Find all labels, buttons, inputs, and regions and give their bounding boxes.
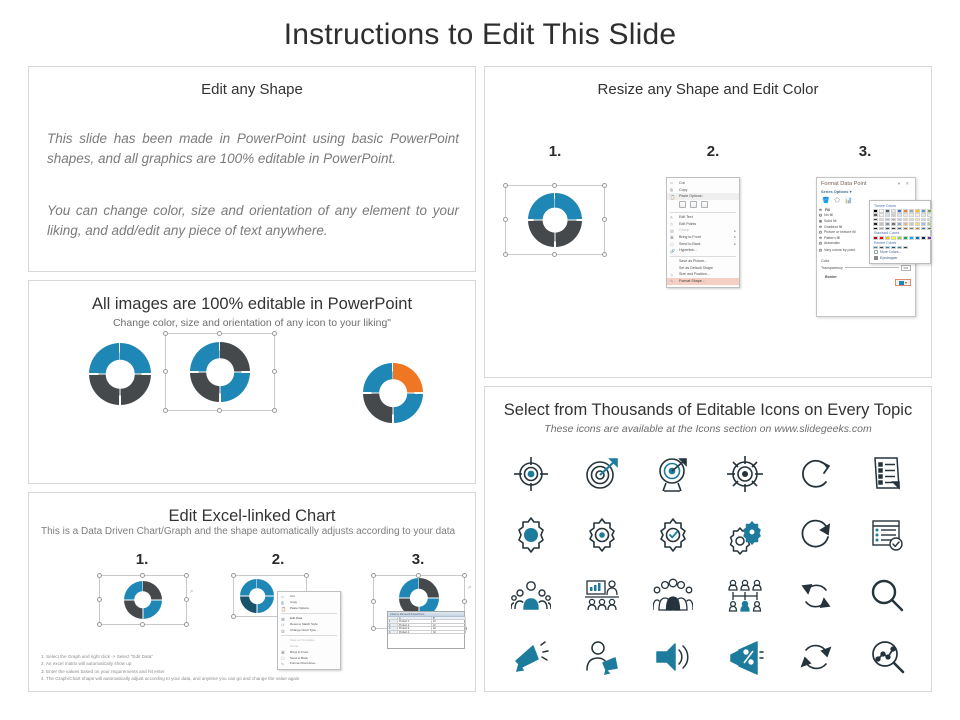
resize-handle-top-right[interactable]: [602, 183, 607, 188]
resize-handle-middle-right[interactable]: [184, 597, 189, 602]
resize-handle-top-left[interactable]: [231, 573, 236, 578]
ctx-item-format-shape[interactable]: ✎Format Shape...: [667, 278, 739, 285]
ctx-label: Format Shape...: [679, 279, 705, 283]
resize-handle-bottom-center[interactable]: [217, 408, 222, 413]
ctx-separator: [670, 212, 736, 213]
panel-title-excel: Edit Excel-linked Chart: [29, 507, 475, 526]
edit-points-icon: ◇: [670, 222, 673, 227]
format-shape-icon: ✎: [670, 279, 673, 284]
panel-images-editable: All images are 100% editable in PowerPoi…: [28, 280, 476, 484]
swatch[interactable]: [915, 213, 920, 217]
mini-excel-window[interactable]: Chart in Microsoft PowerPoint A B 1 Prod…: [387, 611, 465, 649]
ctx-label: Edit Data: [290, 617, 302, 621]
excel-instruction-3: 3. Enter the values based on your requir…: [41, 668, 465, 676]
swatch[interactable]: [879, 209, 884, 213]
resize-handle-top-left[interactable]: [163, 331, 168, 336]
swatch[interactable]: [915, 218, 920, 222]
swatch[interactable]: [891, 222, 896, 226]
swatch[interactable]: [909, 227, 914, 231]
ctx-item-copy[interactable]: ⧉Copy: [667, 187, 739, 194]
eyedropper-icon: [874, 256, 878, 260]
swatch[interactable]: [903, 246, 908, 250]
ctx-label: Change Chart Type...: [290, 629, 318, 633]
swatch[interactable]: [927, 218, 932, 222]
chart-type-icon: ▥: [281, 628, 285, 633]
resize-handle-bottom-right[interactable]: [184, 622, 189, 627]
selection-frame-donut-center[interactable]: [165, 333, 275, 411]
ctx-label: Paste Options:: [679, 194, 703, 198]
send-back-icon: ▢: [670, 242, 674, 247]
swatch[interactable]: [873, 236, 878, 240]
document-check-icon[interactable]: [867, 515, 907, 555]
palette-theme-label: Theme Colors: [874, 204, 927, 208]
ctx-separator: [281, 635, 337, 636]
ctx-label: Group: [290, 645, 298, 649]
person-megaphone-icon[interactable]: [582, 637, 622, 677]
swatch[interactable]: [897, 227, 902, 231]
resize-handle-top-center[interactable]: [217, 331, 222, 336]
ctx-label: Edit Points: [679, 222, 696, 226]
excel-step-number-3: 3.: [381, 551, 455, 568]
radio-icon: [819, 209, 822, 212]
swatch[interactable]: [891, 213, 896, 217]
resize-handle-bottom-right[interactable]: [272, 408, 277, 413]
group-icon: ▤: [670, 228, 674, 233]
gear-outline-icon[interactable]: [582, 515, 622, 555]
format-dialog-controls[interactable]: ▾ ✕: [898, 181, 911, 187]
ctx-item-size-and-position[interactable]: ⇳Size and Position...: [667, 271, 739, 278]
swatch[interactable]: [927, 222, 932, 226]
swatch[interactable]: [897, 222, 902, 226]
megaphone-discount-icon[interactable]: [725, 637, 765, 677]
resize-handle-top-right[interactable]: [184, 573, 189, 578]
color-palette-flyout[interactable]: Theme Colors: [869, 200, 931, 264]
ctx-item-change-chart-type[interactable]: ▥Change Chart Type...: [278, 628, 340, 634]
panel-editable-icons: Select from Thousands of Editable Icons …: [484, 386, 932, 692]
fill-section-label: Fill: [821, 208, 830, 212]
swatch[interactable]: [909, 213, 914, 217]
checkbox-icon[interactable]: [819, 249, 822, 252]
swatch[interactable]: [891, 218, 896, 222]
color-label: Color: [821, 259, 830, 263]
resize-handle-bottom-left[interactable]: [503, 252, 508, 257]
swatch[interactable]: [885, 246, 890, 250]
swatch[interactable]: [897, 236, 902, 240]
ctx-separator: [670, 256, 736, 257]
more-colors-icon: [874, 250, 878, 254]
swatch[interactable]: [885, 222, 890, 226]
swatch[interactable]: [891, 209, 896, 213]
refresh-circle-icon[interactable]: [796, 515, 836, 555]
resize-handle-top-center[interactable]: [140, 573, 145, 578]
swatch[interactable]: [921, 222, 926, 226]
swatch[interactable]: [921, 209, 926, 213]
ctx-item-set-default-shape[interactable]: Set as Default Shape: [667, 265, 739, 272]
swatch[interactable]: [921, 227, 926, 231]
resize-handle-middle-right[interactable]: [602, 217, 607, 222]
ctx-label: Group: [679, 228, 689, 232]
resize-handle-bottom-center[interactable]: [552, 252, 557, 257]
chart-icon[interactable]: 📊: [845, 197, 852, 204]
swatch[interactable]: [903, 222, 908, 226]
resize-handle-middle-left[interactable]: [503, 217, 508, 222]
ctx-label: Cut: [290, 595, 295, 599]
ctx-label: Save as Template...: [290, 639, 316, 643]
paste-keep-text-icon[interactable]: [701, 201, 708, 208]
swatch[interactable]: [927, 227, 932, 231]
resize-donut-selection-frame[interactable]: [505, 185, 605, 255]
resize-handle-bottom-right[interactable]: [602, 252, 607, 257]
shape-context-menu[interactable]: ✂Cut ⧉Copy 📋Paste Options: AEdit Text ◇E…: [666, 177, 740, 288]
swatch[interactable]: [897, 209, 902, 213]
mini-excel-grid[interactable]: A B 1 Product 1 18 2 Product 2 22 3 Prod…: [388, 617, 464, 634]
paste-icon: 📋: [281, 606, 286, 611]
excel-step-number-1: 1.: [105, 551, 179, 568]
chevron-down-icon[interactable]: ▾: [850, 189, 852, 194]
edit-data-icon: ▦: [281, 616, 285, 621]
radio-icon[interactable]: [819, 214, 822, 217]
excel-step1-donut[interactable]: [124, 581, 162, 619]
resize-handle-top-right[interactable]: [462, 573, 467, 578]
target-stand-icon[interactable]: [653, 454, 693, 494]
swatch[interactable]: [891, 236, 896, 240]
fill-option-label: Solid fill: [824, 219, 836, 223]
paste-keep-formatting-icon[interactable]: [679, 201, 686, 208]
swatch[interactable]: [897, 213, 902, 217]
excel-step1-selection-frame[interactable]: [99, 575, 187, 625]
group-people-icon[interactable]: [653, 576, 693, 616]
theme-colors-grid[interactable]: [873, 209, 927, 230]
magnifier-analytics-icon[interactable]: [867, 637, 907, 677]
resize-handle-middle-left[interactable]: [371, 599, 376, 604]
swatch[interactable]: [873, 246, 878, 250]
ctx-label: Save as Picture...: [679, 259, 707, 263]
panel-title-images: All images are 100% editable in PowerPoi…: [29, 295, 475, 314]
expand-icon: [819, 276, 822, 279]
ctx-item-cut[interactable]: ✂Cut: [667, 180, 739, 187]
ctx-label: Set as Default Shape: [679, 266, 713, 270]
resize-handle-middle-left[interactable]: [163, 369, 168, 374]
swatch[interactable]: [909, 218, 914, 222]
ctx-label: Hyperlink...: [679, 248, 697, 252]
swatch[interactable]: [885, 218, 890, 222]
color-picker-button[interactable]: ▾: [895, 279, 911, 286]
panel-excel-linked-chart: Edit Excel-linked Chart This is a Data D…: [28, 492, 476, 692]
swatch[interactable]: [885, 236, 890, 240]
target-dartboard-icon[interactable]: [582, 454, 622, 494]
excel-instruction-4: 4. The Graph/Chart shape will automatica…: [41, 675, 465, 683]
more-colors-label: More Colors...: [880, 250, 901, 254]
resize-handle-top-right[interactable]: [272, 331, 277, 336]
excel-step2-donut[interactable]: [240, 579, 274, 613]
ctx-label: Reset to Match Style: [290, 623, 318, 627]
ctx-item-hyperlink[interactable]: 🔗Hyperlink...: [667, 247, 739, 254]
presentation-team-icon[interactable]: [582, 576, 622, 616]
swatch[interactable]: [915, 222, 920, 226]
swatch[interactable]: [909, 209, 914, 213]
resize-handle-top-center[interactable]: [552, 183, 557, 188]
format-data-point-dialog[interactable]: Format Data Point ▾ ✕ Series Options ▾ 🪣…: [816, 177, 916, 317]
resize-handle-top-right[interactable]: [304, 573, 309, 578]
panel-edit-any-shape: Edit any Shape This slide has been made …: [28, 66, 476, 272]
swatch[interactable]: [879, 236, 884, 240]
excel-step3-cursor-icon: ↗: [467, 585, 471, 591]
swatch[interactable]: [903, 236, 908, 240]
swatch[interactable]: [909, 222, 914, 226]
refresh-cycle-icon[interactable]: [796, 637, 836, 677]
format-dialog-titlebar: Format Data Point ▾ ✕: [817, 178, 915, 189]
swatch[interactable]: [873, 218, 878, 222]
resize-handle-top-left[interactable]: [371, 573, 376, 578]
palette-recent-label: Recent Colors: [874, 241, 927, 245]
speaker-loud-icon[interactable]: [653, 637, 693, 677]
paste-icon: 📋: [670, 194, 675, 199]
radio-icon[interactable]: [819, 242, 822, 245]
ctx-item-paste[interactable]: 📋Paste Options: [278, 606, 340, 612]
border-section-label: Border: [821, 275, 837, 279]
scissors-icon: ✂: [281, 594, 284, 599]
fill-option-label: Picture or texture fill: [824, 230, 856, 234]
swatch[interactable]: [921, 236, 926, 240]
fill-option-label: No fill: [824, 213, 833, 217]
icons-grid: [495, 443, 923, 687]
donut-blue-gray-selected[interactable]: [190, 342, 250, 402]
chevron-right-icon: ▸: [734, 242, 736, 246]
megaphone-icon[interactable]: [511, 637, 551, 677]
swatch[interactable]: [897, 246, 902, 250]
mini-excel-row-num: 4: [388, 631, 398, 634]
copy-icon: ⧉: [670, 188, 673, 193]
donut-orange-accent[interactable]: [363, 363, 423, 423]
swatch[interactable]: [873, 222, 878, 226]
standard-colors-grid[interactable]: [873, 236, 927, 240]
vary-colors-label: Vary colors by point: [824, 248, 855, 252]
copy-icon: ⧉: [281, 600, 284, 605]
swatch[interactable]: [903, 218, 908, 222]
refresh-sync-icon[interactable]: [796, 576, 836, 616]
swatch[interactable]: [897, 218, 902, 222]
fill-option-label: Automatic: [824, 241, 840, 245]
resize-step-number-1: 1.: [525, 143, 585, 160]
swatch[interactable]: [879, 227, 884, 231]
ctx-item-save-as-picture[interactable]: Save as Picture...: [667, 258, 739, 265]
panel-title-resize: Resize any Shape and Edit Color: [485, 81, 931, 98]
swatch[interactable]: [891, 246, 896, 250]
donut-blue-gray-left[interactable]: [89, 343, 151, 405]
eyedropper-label: Eyedropper: [880, 256, 898, 260]
format-dialog-series-options[interactable]: Series Options ▾: [817, 189, 915, 196]
resize-handle-bottom-left[interactable]: [97, 622, 102, 627]
page-title: Instructions to Edit This Slide: [0, 18, 960, 52]
ctx-label: Paste Options: [290, 607, 309, 611]
swatch[interactable]: [873, 213, 878, 217]
effects-icon[interactable]: ⬠: [834, 197, 839, 204]
ctx-label: Cut: [679, 181, 685, 185]
edit-shape-paragraph-1: This slide has been made in PowerPoint u…: [47, 129, 459, 169]
ctx-item-bring-front[interactable]: ▣Bring to Front▸: [667, 234, 739, 241]
excel-step-number-2: 2.: [241, 551, 315, 568]
swatch[interactable]: [903, 227, 908, 231]
paste-option-buttons[interactable]: [667, 200, 739, 210]
swatch[interactable]: [927, 209, 932, 213]
ctx-item-edit-text[interactable]: AEdit Text: [667, 214, 739, 221]
resize-handle-bottom-left[interactable]: [231, 614, 236, 619]
swatch[interactable]: [903, 213, 908, 217]
checklist-document-icon[interactable]: [867, 454, 907, 494]
edit-text-icon: A: [670, 215, 673, 220]
panel-title-edit-shape: Edit any Shape: [29, 81, 475, 98]
fill-option-label: Gradient fill: [824, 225, 842, 229]
transparency-field-row[interactable]: Transparency 0%: [817, 264, 915, 272]
reset-style-icon: ↺: [281, 622, 284, 627]
resize-handle-middle-left[interactable]: [97, 597, 102, 602]
ctx-label: Size and Position...: [679, 272, 710, 276]
eyedropper-option[interactable]: Eyedropper: [873, 255, 927, 261]
panel-subtitle-images: Change color, size and orientation of an…: [29, 317, 475, 329]
chevron-down-icon: ▾: [905, 280, 907, 285]
ctx-label: Bring to Front: [679, 235, 701, 239]
resize-handle-middle-right[interactable]: [462, 599, 467, 604]
target-scope-icon[interactable]: [725, 454, 765, 494]
radio-icon[interactable]: [819, 225, 822, 228]
ctx-item-send-back[interactable]: ▢Send to Back▸: [667, 241, 739, 248]
chevron-right-icon: ▸: [734, 229, 736, 233]
resize-handle-top-left[interactable]: [503, 183, 508, 188]
swatch[interactable]: [879, 213, 884, 217]
ctx-item-group[interactable]: ▤Group▸: [667, 227, 739, 234]
target-crosshair-icon[interactable]: [511, 454, 551, 494]
refresh-clockwise-icon[interactable]: [796, 454, 836, 494]
resize-handle-top-left[interactable]: [97, 573, 102, 578]
swatch[interactable]: [921, 218, 926, 222]
ctx-separator: [281, 613, 337, 614]
swatch[interactable]: [879, 246, 884, 250]
excel-step1-cursor-icon: ↗: [189, 589, 193, 595]
swatch[interactable]: [873, 209, 878, 213]
resize-handle-bottom-left[interactable]: [371, 626, 376, 631]
swatch[interactable]: [915, 227, 920, 231]
bring-front-icon: ▣: [670, 235, 674, 240]
transparency-value[interactable]: 0%: [901, 265, 911, 271]
paste-picture-icon[interactable]: [690, 201, 697, 208]
fill-bucket-icon[interactable]: 🪣: [822, 197, 829, 204]
swatch[interactable]: [903, 209, 908, 213]
org-chart-people-icon[interactable]: [725, 576, 765, 616]
excel-instructions-list: 1. Select the Graph and right click -> S…: [41, 653, 465, 683]
radio-icon[interactable]: [819, 236, 822, 239]
panel-resize-shape-edit-color: Resize any Shape and Edit Color 1. 2. 3.…: [484, 66, 932, 378]
swatch[interactable]: [915, 236, 920, 240]
swatch[interactable]: [885, 227, 890, 231]
swatch[interactable]: [891, 227, 896, 231]
radio-icon[interactable]: [819, 231, 822, 234]
ctx-label: Copy: [679, 188, 687, 192]
transparency-label: Transparency: [821, 266, 843, 270]
excel-instruction-1: 1. Select the Graph and right click -> S…: [41, 653, 465, 661]
swatch[interactable]: [885, 209, 890, 213]
mini-excel-cell[interactable]: 30: [432, 631, 466, 634]
fill-option-label: Pattern fill: [824, 236, 840, 240]
swatch[interactable]: [873, 227, 878, 231]
swatch[interactable]: [909, 236, 914, 240]
ctx-label: Copy: [290, 601, 297, 605]
ctx-label: Send to Back: [679, 242, 700, 246]
team-leader-icon[interactable]: [511, 576, 551, 616]
swatch[interactable]: [927, 213, 932, 217]
fill-color-swatch: [899, 281, 904, 285]
magnifier-icon[interactable]: [867, 576, 907, 616]
excel-instruction-2: 2. An excel matrix will automatically sh…: [41, 660, 465, 668]
edit-shape-paragraph-2: You can change color, size and orientati…: [47, 201, 459, 241]
ctx-item-edit-points[interactable]: ◇Edit Points: [667, 221, 739, 228]
swatch[interactable]: [885, 213, 890, 217]
palette-standard-label: Standard Colors: [874, 231, 927, 235]
slide-canvas: Instructions to Edit This Slide Edit any…: [0, 0, 960, 720]
scissors-icon: ✂: [670, 181, 673, 186]
panel-subtitle-excel: This is a Data Driven Chart/Graph and th…: [41, 525, 461, 538]
format-dialog-title: Format Data Point: [821, 181, 866, 187]
series-options-label: Series Options: [821, 189, 848, 194]
donut-blue-gray-resize[interactable]: [528, 193, 582, 247]
swatch[interactable]: [915, 209, 920, 213]
gear-check-icon[interactable]: [653, 515, 693, 555]
swatch[interactable]: [879, 222, 884, 226]
ctx-item-paste-options[interactable]: 📋Paste Options:: [667, 193, 739, 200]
swatch[interactable]: [927, 236, 932, 240]
gears-pair-icon[interactable]: [725, 515, 765, 555]
gear-solid-icon[interactable]: [511, 515, 551, 555]
resize-handle-bottom-left[interactable]: [163, 408, 168, 413]
size-position-icon: ⇳: [670, 272, 673, 277]
panel-title-icons: Select from Thousands of Editable Icons …: [485, 401, 931, 420]
chevron-right-icon: ▸: [734, 235, 736, 239]
resize-handle-bottom-center[interactable]: [140, 622, 145, 627]
mini-excel-cell[interactable]: Product 4: [398, 631, 432, 634]
radio-icon[interactable]: [819, 220, 822, 223]
ctx-label: Edit Text: [679, 215, 693, 219]
hyperlink-icon: 🔗: [670, 248, 675, 253]
resize-handle-middle-right[interactable]: [272, 369, 277, 374]
swatch[interactable]: [921, 213, 926, 217]
resize-step-number-2: 2.: [683, 143, 743, 160]
panel-subtitle-icons: These icons are available at the Icons s…: [485, 423, 931, 435]
swatch[interactable]: [879, 218, 884, 222]
resize-step-number-3: 3.: [835, 143, 895, 160]
